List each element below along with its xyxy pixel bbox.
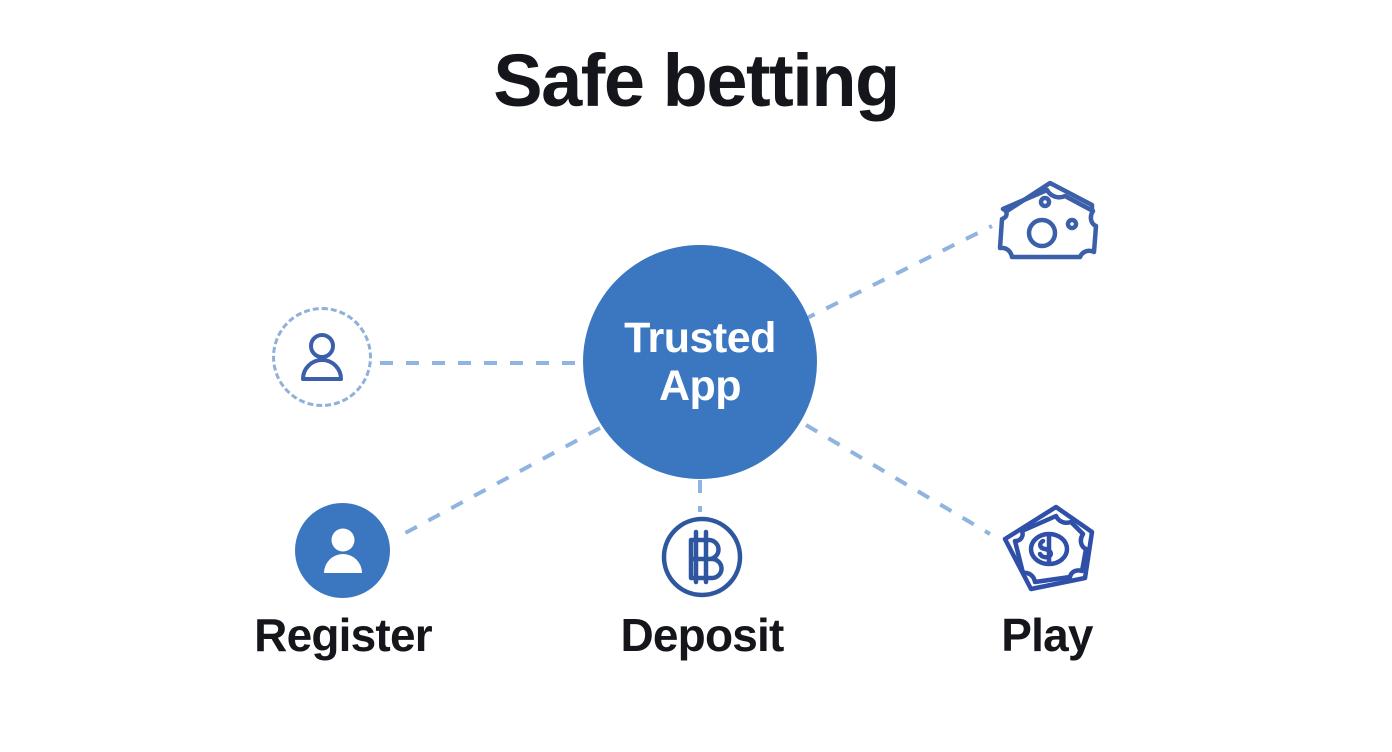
banknote-dollar-icon bbox=[993, 503, 1098, 593]
connector-hub-to-cash bbox=[803, 226, 992, 320]
bitcoin-icon bbox=[660, 515, 744, 599]
banknotes-stack-icon bbox=[995, 178, 1100, 263]
node-user-outline[interactable] bbox=[272, 307, 372, 407]
register-circle bbox=[295, 503, 390, 598]
connector-hub-to-register bbox=[396, 428, 600, 538]
node-cash[interactable] bbox=[995, 178, 1100, 263]
node-label-play: Play bbox=[867, 612, 1227, 658]
hub-label-line-1: Trusted bbox=[624, 314, 776, 362]
node-label-register: Register bbox=[163, 612, 523, 658]
node-label-deposit: Deposit bbox=[522, 612, 882, 658]
node-deposit[interactable] bbox=[660, 515, 744, 599]
hub-label-line-2: App bbox=[659, 362, 741, 410]
user-filled-icon bbox=[318, 525, 368, 577]
node-play[interactable] bbox=[993, 503, 1098, 593]
user-outline-icon bbox=[298, 332, 346, 387]
connector-hub-to-play bbox=[806, 425, 990, 534]
node-register[interactable] bbox=[295, 503, 390, 598]
hub-node-trusted-app[interactable]: Trusted App bbox=[583, 245, 817, 479]
diagram-canvas: Safe betting Trusted App bbox=[0, 0, 1392, 752]
